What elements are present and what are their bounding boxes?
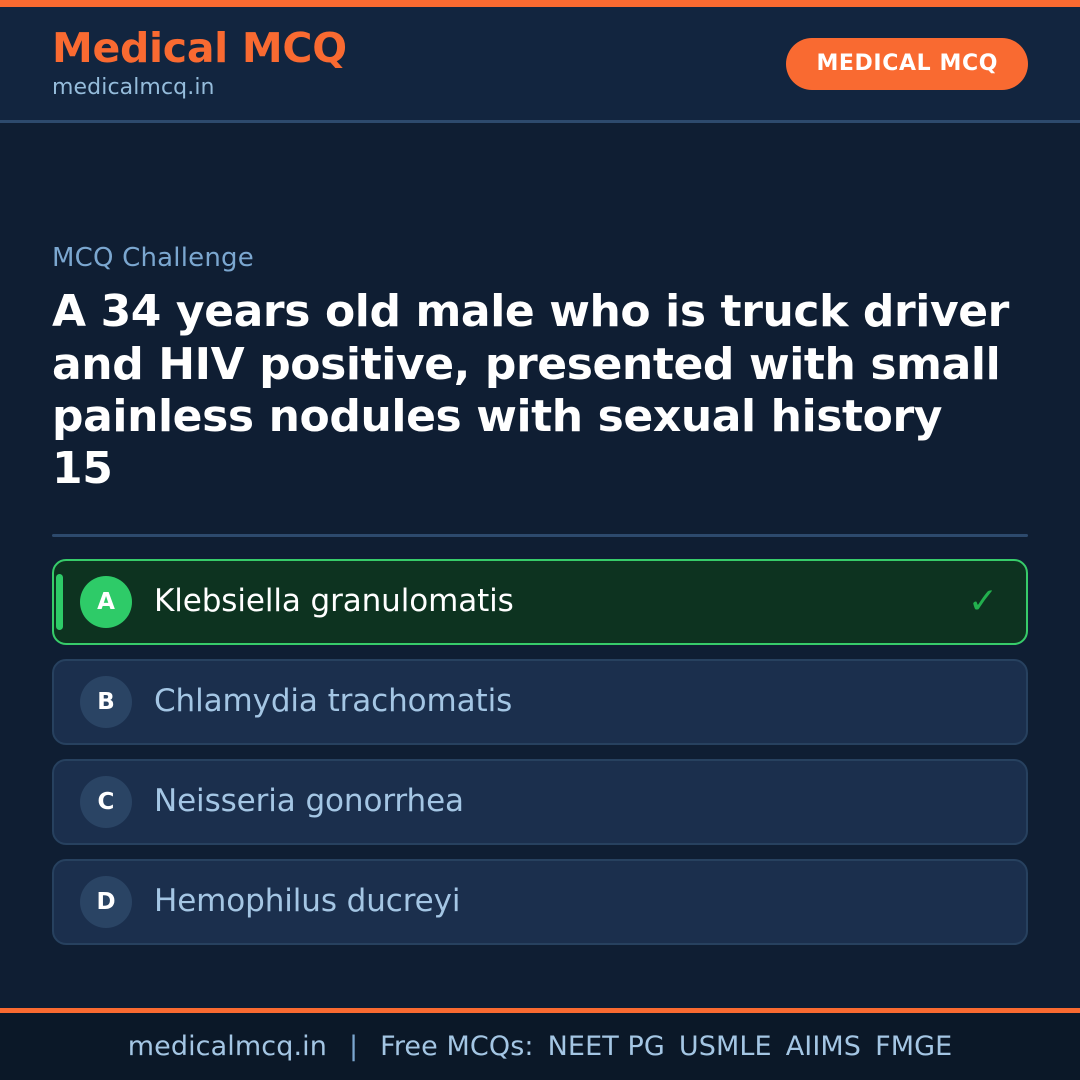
footer-separator: |: [349, 1031, 358, 1062]
footer-label: Free MCQs:: [380, 1031, 533, 1062]
option-label-c: Neisseria gonorrhea: [154, 783, 952, 820]
footer-wrapper: medicalmcq.in | Free MCQs: NEET PG USMLE…: [0, 1008, 1080, 1080]
question-text: A 34 years old male who is truck driver …: [52, 286, 1012, 495]
option-letter-badge-b: B: [80, 676, 132, 728]
option-row-a[interactable]: A Klebsiella granulomatis ✓: [52, 559, 1028, 645]
brand-url: medicalmcq.in: [52, 74, 347, 102]
option-label-a: Klebsiella granulomatis: [154, 583, 952, 620]
options-list: A Klebsiella granulomatis ✓ B Chlamydia …: [52, 559, 1028, 945]
main-content: MCQ Challenge A 34 years old male who is…: [0, 123, 1080, 1008]
option-letter-badge-a: A: [80, 576, 132, 628]
option-row-b[interactable]: B Chlamydia trachomatis ✓: [52, 659, 1028, 745]
option-label-d: Hemophilus ducreyi: [154, 883, 952, 920]
footer-content: medicalmcq.in | Free MCQs: NEET PG USMLE…: [128, 1031, 953, 1062]
option-letter-badge-c: C: [80, 776, 132, 828]
section-eyebrow: MCQ Challenge: [52, 243, 1028, 274]
question-divider: [52, 534, 1028, 537]
correct-accent-bar: [56, 574, 63, 630]
option-row-c[interactable]: C Neisseria gonorrhea ✓: [52, 759, 1028, 845]
footer-exam-fmge[interactable]: FMGE: [875, 1031, 952, 1062]
check-icon: ✓: [968, 584, 998, 620]
mcq-card: Medical MCQ medicalmcq.in MEDICAL MCQ MC…: [0, 0, 1080, 1080]
footer-exam-aiims[interactable]: AIIMS: [786, 1031, 861, 1062]
option-label-b: Chlamydia trachomatis: [154, 683, 952, 720]
brand: Medical MCQ medicalmcq.in: [52, 26, 347, 101]
option-row-d[interactable]: D Hemophilus ducreyi ✓: [52, 859, 1028, 945]
footer-site-link[interactable]: medicalmcq.in: [128, 1031, 327, 1062]
option-letter-badge-d: D: [80, 876, 132, 928]
header-badge[interactable]: MEDICAL MCQ: [786, 38, 1028, 90]
top-accent-bar: [0, 0, 1080, 7]
footer-exam-neet-pg[interactable]: NEET PG: [548, 1031, 665, 1062]
page-footer: medicalmcq.in | Free MCQs: NEET PG USMLE…: [0, 1013, 1080, 1080]
brand-title: Medical MCQ: [52, 26, 347, 72]
footer-exam-usmle[interactable]: USMLE: [679, 1031, 772, 1062]
page-header: Medical MCQ medicalmcq.in MEDICAL MCQ: [0, 7, 1080, 123]
